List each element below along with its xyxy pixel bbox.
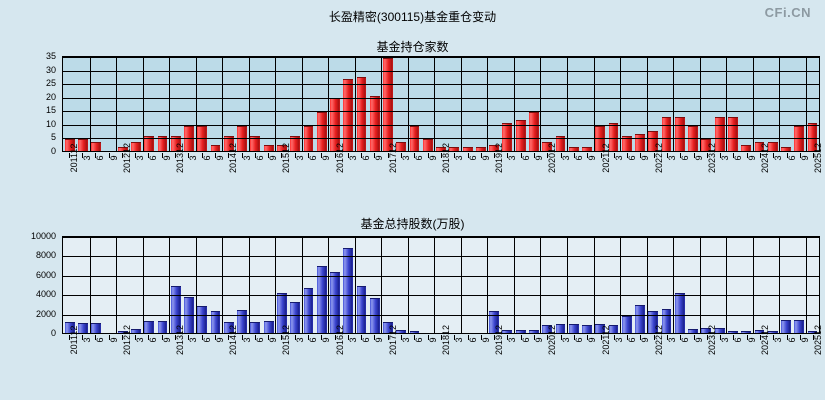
- x-label-cell: 3: [660, 157, 673, 203]
- x-label-cell: 6: [514, 157, 527, 203]
- bar-cell: [779, 237, 792, 333]
- x-tick-label: 202512: [813, 143, 823, 173]
- gridline-vertical: [408, 237, 409, 333]
- gridline-vertical: [249, 57, 250, 151]
- bar: [622, 316, 632, 333]
- x-label-cell: 9: [687, 157, 700, 203]
- y-tick-label: 5: [51, 132, 56, 142]
- bar-cell: [63, 237, 76, 333]
- x-label-cell: 6: [248, 339, 261, 385]
- x-label-cell: 201312: [168, 339, 181, 385]
- x-label-cell: 6: [674, 157, 687, 203]
- bar-cell: [143, 237, 156, 333]
- bar-cell: [673, 237, 686, 333]
- x-label-cell: 6: [142, 339, 155, 385]
- x-label-cell: 9: [634, 157, 647, 203]
- gridline-vertical: [487, 57, 488, 151]
- bar: [529, 330, 539, 333]
- x-label-cell: 201412: [222, 157, 235, 203]
- bar-cell: [156, 237, 169, 333]
- bar: [264, 321, 274, 333]
- bar-cell: [116, 237, 129, 333]
- x-label-cell: 202112: [594, 339, 607, 385]
- bar: [211, 145, 221, 151]
- x-label-cell: 201912: [488, 339, 501, 385]
- x-label-cell: 3: [288, 157, 301, 203]
- gridline-vertical: [355, 237, 356, 333]
- bar: [675, 117, 685, 151]
- gridline-horizontal: [63, 295, 819, 296]
- bar: [91, 142, 101, 151]
- x-label-cell: 6: [408, 157, 421, 203]
- gridline-vertical: [143, 57, 144, 151]
- gridline-vertical: [779, 57, 780, 151]
- gridline-horizontal: [63, 84, 819, 85]
- page-title: 长盈精密(300115)基金重仓变动: [0, 8, 825, 25]
- bar: [635, 134, 645, 151]
- bar-cell: [315, 237, 328, 333]
- gridline-vertical: [806, 237, 807, 333]
- chart2-x-labels: 2011123692012123692013123692014123692015…: [62, 339, 820, 385]
- bar-cell: [740, 237, 753, 333]
- x-label-cell: 202512: [807, 339, 820, 385]
- bar-cell: [488, 237, 501, 333]
- bar: [330, 272, 340, 333]
- x-label-cell: 202112: [594, 157, 607, 203]
- bar-cell: [262, 237, 275, 333]
- x-label-cell: 201512: [275, 157, 288, 203]
- x-label-cell: 202212: [647, 339, 660, 385]
- gridline-vertical: [302, 57, 303, 151]
- bar: [250, 322, 260, 333]
- gridline-vertical: [461, 57, 462, 151]
- x-label-cell: 9: [581, 157, 594, 203]
- bar: [741, 145, 751, 151]
- gridline-vertical: [328, 237, 329, 333]
- gridline-horizontal: [63, 138, 819, 139]
- bar-cell: [196, 237, 209, 333]
- bar: [343, 248, 353, 333]
- gridline-vertical: [620, 237, 621, 333]
- bar: [78, 323, 88, 333]
- x-label-cell: 3: [448, 157, 461, 203]
- gridline-horizontal: [63, 111, 819, 112]
- gridline-vertical: [594, 57, 595, 151]
- x-label-cell: 9: [208, 157, 221, 203]
- chart1-title: 基金持仓家数: [0, 38, 825, 55]
- x-label-cell: 3: [75, 339, 88, 385]
- gridline-vertical: [514, 237, 515, 333]
- gridline-vertical: [169, 57, 170, 151]
- bar: [131, 329, 141, 333]
- x-label-cell: 3: [182, 339, 195, 385]
- bar: [569, 147, 579, 151]
- bar-cell: [660, 237, 673, 333]
- bar-cell: [793, 237, 806, 333]
- bar-cell: [686, 237, 699, 333]
- gridline-vertical: [90, 237, 91, 333]
- bar-cell: [381, 237, 394, 333]
- x-label-cell: 202412: [753, 339, 766, 385]
- bar-cell: [647, 237, 660, 333]
- gridline-vertical: [116, 57, 117, 151]
- x-label-cell: 6: [780, 157, 793, 203]
- x-label-cell: 201812: [434, 157, 447, 203]
- x-label-cell: 3: [235, 157, 248, 203]
- x-label-cell: 6: [727, 339, 740, 385]
- x-label-cell: 6: [567, 157, 580, 203]
- bar-cell: [129, 237, 142, 333]
- bar-cell: [209, 237, 222, 333]
- x-label-cell: 9: [315, 339, 328, 385]
- x-label-cell: 202412: [753, 157, 766, 203]
- gridline-vertical: [567, 57, 568, 151]
- bar-cell: [408, 237, 421, 333]
- gridline-horizontal: [63, 256, 819, 257]
- x-label-cell: 6: [89, 157, 102, 203]
- gridline-horizontal: [63, 71, 819, 72]
- x-label-cell: 9: [102, 157, 115, 203]
- x-label-cell: 3: [288, 339, 301, 385]
- y-tick-label: 2000: [36, 309, 56, 319]
- x-label-cell: 6: [780, 339, 793, 385]
- bar-cell: [249, 237, 262, 333]
- bar-cell: [527, 237, 540, 333]
- x-label-cell: 3: [394, 339, 407, 385]
- bar-cell: [633, 237, 646, 333]
- bar-cell: [342, 237, 355, 333]
- x-label-cell: 201912: [488, 157, 501, 203]
- x-label-cell: 201712: [381, 157, 394, 203]
- x-label-cell: 6: [620, 339, 633, 385]
- x-label-cell: 9: [208, 339, 221, 385]
- bar-cell: [580, 237, 593, 333]
- gridline-vertical: [806, 57, 807, 151]
- x-label-cell: 3: [341, 339, 354, 385]
- bar-cell: [275, 237, 288, 333]
- gridline-vertical: [302, 237, 303, 333]
- x-label-cell: 3: [448, 339, 461, 385]
- bar-cell: [514, 237, 527, 333]
- bar: [516, 330, 526, 333]
- x-label-cell: 202312: [700, 157, 713, 203]
- bar-cell: [222, 237, 235, 333]
- x-label-cell: 9: [793, 339, 806, 385]
- x-label-cell: 3: [714, 157, 727, 203]
- x-label-cell: 6: [195, 157, 208, 203]
- bar: [781, 320, 791, 333]
- gridline-vertical: [434, 57, 435, 151]
- bar-cell: [726, 237, 739, 333]
- x-label-cell: 9: [581, 339, 594, 385]
- gridline-vertical: [461, 237, 462, 333]
- bar-cell: [328, 237, 341, 333]
- gridline-vertical: [779, 237, 780, 333]
- bar-cell: [182, 237, 195, 333]
- gridline-vertical: [594, 237, 595, 333]
- y-tick-label: 0: [51, 146, 56, 156]
- bar: [688, 329, 698, 333]
- bar-cell: [461, 237, 474, 333]
- bar: [728, 117, 738, 151]
- bar-cell: [713, 237, 726, 333]
- x-label-cell: 9: [474, 157, 487, 203]
- bar: [197, 306, 207, 333]
- x-label-cell: 201612: [328, 339, 341, 385]
- x-label-cell: 202012: [541, 157, 554, 203]
- x-label-cell: 201212: [115, 157, 128, 203]
- x-label-cell: 6: [355, 157, 368, 203]
- gridline-vertical: [620, 57, 621, 151]
- x-label-cell: 3: [128, 157, 141, 203]
- x-label-cell: 9: [315, 157, 328, 203]
- bar: [343, 79, 353, 151]
- chart1-x-labels: 2011123692012123692013123692014123692015…: [62, 157, 820, 203]
- x-label-cell: 6: [727, 157, 740, 203]
- x-label-cell: 6: [301, 157, 314, 203]
- bar: [264, 145, 274, 151]
- x-label-cell: 3: [394, 157, 407, 203]
- gridline-horizontal: [63, 57, 819, 58]
- bar: [741, 331, 751, 333]
- bar: [144, 321, 154, 333]
- bar-cell: [368, 237, 381, 333]
- x-label-cell: 3: [714, 339, 727, 385]
- x-label-cell: 201112: [62, 339, 75, 385]
- bar: [582, 325, 592, 333]
- bar-cell: [395, 237, 408, 333]
- x-label-cell: 3: [341, 157, 354, 203]
- bar: [91, 323, 101, 333]
- gridline-vertical: [700, 237, 701, 333]
- x-label-cell: 9: [687, 339, 700, 385]
- y-tick-label: 6000: [36, 270, 56, 280]
- bar: [582, 147, 592, 151]
- x-label-cell: 201412: [222, 339, 235, 385]
- x-label-cell: 3: [75, 157, 88, 203]
- bar: [556, 324, 566, 333]
- gridline-vertical: [514, 57, 515, 151]
- chart2-bars: [63, 237, 819, 333]
- x-label-cell: 3: [554, 157, 567, 203]
- bar-cell: [620, 237, 633, 333]
- gridline-vertical: [487, 237, 488, 333]
- x-label-cell: 6: [142, 157, 155, 203]
- x-label-cell: 9: [368, 157, 381, 203]
- gridline-vertical: [143, 237, 144, 333]
- bar: [410, 331, 420, 333]
- y-tick-label: 15: [46, 105, 56, 115]
- x-label-cell: 202212: [647, 157, 660, 203]
- x-label-cell: 9: [793, 157, 806, 203]
- x-label-cell: 3: [767, 157, 780, 203]
- x-label-cell: 3: [767, 339, 780, 385]
- gridline-vertical: [381, 237, 382, 333]
- bar: [423, 139, 433, 151]
- x-label-cell: 3: [501, 339, 514, 385]
- x-label-cell: 9: [155, 157, 168, 203]
- bar-cell: [76, 237, 89, 333]
- gridline-vertical: [355, 57, 356, 151]
- x-label-cell: 9: [368, 339, 381, 385]
- x-label-cell: 202012: [541, 339, 554, 385]
- x-label-cell: 6: [514, 339, 527, 385]
- x-label-cell: 9: [421, 339, 434, 385]
- x-label-cell: 3: [128, 339, 141, 385]
- x-label-cell: 3: [607, 157, 620, 203]
- gridline-horizontal: [63, 125, 819, 126]
- bar-cell: [594, 237, 607, 333]
- bar-cell: [448, 237, 461, 333]
- gridline-vertical: [196, 237, 197, 333]
- gridline-vertical: [196, 57, 197, 151]
- bar: [78, 139, 88, 151]
- gridline-vertical: [408, 57, 409, 151]
- x-label-cell: 9: [634, 339, 647, 385]
- x-label-cell: 9: [527, 339, 540, 385]
- bar-cell: [302, 237, 315, 333]
- bar: [357, 77, 367, 151]
- x-label-cell: 6: [195, 339, 208, 385]
- gridline-vertical: [275, 57, 276, 151]
- bar-cell: [235, 237, 248, 333]
- y-tick-label: 8000: [36, 250, 56, 260]
- x-label-cell: 9: [474, 339, 487, 385]
- bar-cell: [554, 237, 567, 333]
- x-label-cell: 201512: [275, 339, 288, 385]
- bar-cell: [474, 237, 487, 333]
- x-label-cell: 6: [461, 157, 474, 203]
- x-label-cell: 201612: [328, 157, 341, 203]
- x-label-cell: 6: [620, 157, 633, 203]
- gridline-vertical: [249, 237, 250, 333]
- bar: [675, 293, 685, 333]
- bar: [357, 286, 367, 333]
- bar: [781, 147, 791, 151]
- x-label-cell: 201212: [115, 339, 128, 385]
- bar: [131, 142, 141, 151]
- bar: [794, 320, 804, 333]
- gridline-horizontal: [63, 276, 819, 277]
- gridline-vertical: [434, 237, 435, 333]
- x-label-cell: 6: [567, 339, 580, 385]
- x-label-cell: 201812: [434, 339, 447, 385]
- bar-cell: [753, 237, 766, 333]
- gridline-horizontal: [63, 315, 819, 316]
- bar-cell: [434, 237, 447, 333]
- x-label-cell: 3: [607, 339, 620, 385]
- x-label-cell: 202312: [700, 339, 713, 385]
- gridline-horizontal: [63, 237, 819, 238]
- x-label-cell: 9: [102, 339, 115, 385]
- gridline-vertical: [647, 57, 648, 151]
- bar: [728, 331, 738, 333]
- chart2-title: 基金总持股数(万股): [0, 215, 825, 232]
- x-label-cell: 9: [740, 157, 753, 203]
- y-tick-label: 10: [46, 119, 56, 129]
- x-label-cell: 201312: [168, 157, 181, 203]
- x-label-cell: 6: [408, 339, 421, 385]
- bar-cell: [90, 237, 103, 333]
- y-tick-label: 30: [46, 65, 56, 75]
- chart1-plot-area: [62, 56, 820, 152]
- x-tick-label: 202512: [813, 325, 823, 355]
- x-label-cell: 3: [660, 339, 673, 385]
- gridline-vertical: [222, 57, 223, 151]
- x-label-cell: 3: [554, 339, 567, 385]
- bar-cell: [806, 237, 819, 333]
- bar-cell: [169, 237, 182, 333]
- gridline-vertical: [116, 237, 117, 333]
- gridline-vertical: [726, 237, 727, 333]
- y-tick-label: 0: [51, 328, 56, 338]
- x-label-cell: 201112: [62, 157, 75, 203]
- gridline-vertical: [540, 57, 541, 151]
- bar-cell: [289, 237, 302, 333]
- x-label-cell: 3: [182, 157, 195, 203]
- gridline-horizontal: [63, 98, 819, 99]
- x-label-cell: 9: [527, 157, 540, 203]
- x-label-cell: 6: [248, 157, 261, 203]
- y-tick-label: 10000: [31, 231, 56, 241]
- gridline-vertical: [753, 237, 754, 333]
- bar-cell: [541, 237, 554, 333]
- x-label-cell: 6: [355, 339, 368, 385]
- gridline-vertical: [647, 237, 648, 333]
- bar: [463, 147, 473, 151]
- x-label-cell: 3: [235, 339, 248, 385]
- x-label-cell: 9: [421, 157, 434, 203]
- bar: [476, 147, 486, 151]
- gridline-vertical: [275, 237, 276, 333]
- gridline-vertical: [381, 57, 382, 151]
- bar-cell: [766, 237, 779, 333]
- bar: [635, 305, 645, 333]
- gridline-vertical: [567, 237, 568, 333]
- y-tick-label: 20: [46, 92, 56, 102]
- gridline-vertical: [673, 237, 674, 333]
- x-label-cell: 201712: [381, 339, 394, 385]
- gridline-vertical: [753, 57, 754, 151]
- y-tick-label: 35: [46, 51, 56, 61]
- bar-cell: [421, 237, 434, 333]
- chart2-panel: 0200040006000800010000 20111236920121236…: [0, 236, 825, 386]
- bar: [370, 96, 380, 151]
- bar: [529, 112, 539, 151]
- x-label-cell: 9: [155, 339, 168, 385]
- chart2-plot-area: [62, 236, 820, 334]
- x-label-cell: 9: [740, 339, 753, 385]
- gridline-vertical: [169, 237, 170, 333]
- gridline-vertical: [90, 57, 91, 151]
- x-label-cell: 6: [461, 339, 474, 385]
- bar: [383, 58, 393, 151]
- x-label-cell: 9: [261, 339, 274, 385]
- bar-cell: [567, 237, 580, 333]
- x-label-cell: 6: [89, 339, 102, 385]
- x-label-cell: 6: [301, 339, 314, 385]
- bar: [317, 112, 327, 151]
- bar: [569, 324, 579, 333]
- gridline-vertical: [328, 57, 329, 151]
- gridline-vertical: [222, 237, 223, 333]
- y-tick-label: 25: [46, 78, 56, 88]
- gridline-vertical: [700, 57, 701, 151]
- x-label-cell: 3: [501, 157, 514, 203]
- x-label-cell: 202512: [807, 157, 820, 203]
- x-label-cell: 9: [261, 157, 274, 203]
- bar-cell: [355, 237, 368, 333]
